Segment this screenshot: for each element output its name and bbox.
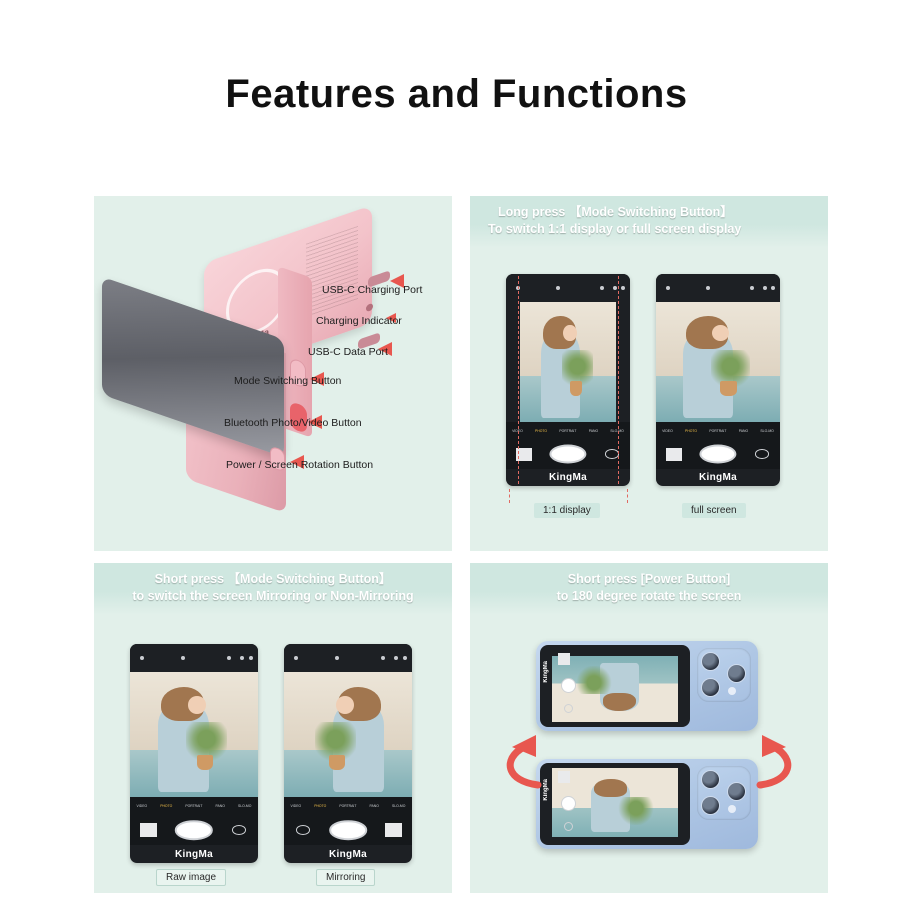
mode-portrait[interactable]: PORTRAIT [185,804,202,808]
mode-portrait[interactable]: PORTRAIT [709,429,726,433]
label-full-screen: full screen [682,503,746,518]
phone-viewfinder [130,672,258,797]
camera-mode-strip[interactable]: VIDEO PHOTO PORTRAIT PANO SLO-MO [130,797,258,815]
callout-label-bluetooth-button: Bluetooth Photo/Video Button [224,417,362,429]
timer-icon [240,656,244,660]
flash-icon [666,286,670,290]
ratio-icon [381,656,385,660]
mode-slomo[interactable]: SLO-MO [392,804,405,808]
phone-brand-label: KingMa [284,845,412,863]
flip-camera-icon[interactable] [296,825,310,835]
phone-rotated-upper: KingMa [536,641,758,731]
phone-preview-mirrored: VIDEO PHOTO PORTRAIT PANO SLO-MO KingMa [284,644,412,863]
gallery-thumbnail[interactable] [140,823,157,836]
live-photo-icon [556,286,560,290]
phone-viewfinder [284,672,412,797]
mode-pano[interactable]: PANO [370,804,379,808]
shutter-button[interactable] [175,820,213,840]
phone-brand-label: KingMa [130,845,258,863]
camera-mode-strip[interactable]: VIDEO PHOTO PORTRAIT PANO SLO-MO [284,797,412,815]
filter-icon [249,656,253,660]
monitor-screen-lower: KingMa [540,763,690,845]
caption-long-press: Long press 【Mode Switching Button】 To sw… [470,196,828,248]
mode-pano[interactable]: PANO [216,804,225,808]
camera-mode-strip[interactable]: VIDEO PHOTO PORTRAIT PANO SLO-MO [506,422,630,439]
flip-camera-icon[interactable] [605,449,619,458]
monitor-screen-upper: KingMa [540,645,690,727]
callout-label-charging-indicator: Charging Indicator [316,315,402,327]
flip-camera-icon[interactable] [564,704,573,713]
gallery-thumbnail[interactable] [558,771,570,783]
callout-label-mode-switching: Mode Switching Button [234,375,341,387]
panel-short-press-mirroring: Short press 【Mode Switching Button】 to s… [94,563,452,893]
live-photo-icon [706,286,710,290]
camera-lens-icon [701,652,720,671]
mode-video[interactable]: VIDEO [662,429,673,433]
ratio-icon [227,656,231,660]
mode-portrait[interactable]: PORTRAIT [559,429,576,433]
caption-line-1: Short press [Power Button] [476,571,822,588]
device-illustration: KiNGMa USB-C Charging Port Charging Indi… [94,196,452,551]
caption-line-2: to switch the screen Mirroring or Non-Mi… [100,588,446,605]
phone-brand-label: KingMa [656,469,780,486]
ratio-icon [600,286,604,290]
live-photo-icon [181,656,185,660]
panel-rotate-screen: Short press [Power Button] to 180 degree… [470,563,828,893]
phone-viewfinder [656,302,780,423]
timer-icon [394,656,398,660]
rotate-arrow-left-icon [488,731,550,791]
label-raw-image: Raw image [156,869,226,886]
ratio-icon [750,286,754,290]
flip-camera-icon[interactable] [564,822,573,831]
mode-pano[interactable]: PANO [739,429,748,433]
camera-controls [130,815,258,846]
camera-lens-icon [701,770,720,789]
flip-camera-icon[interactable] [232,825,246,835]
phone-rotated-lower: KingMa [536,759,758,849]
callout-label-usb-data: USB-C Data Port [308,346,388,358]
gallery-thumbnail[interactable] [666,448,682,461]
camera-controls [506,439,630,469]
phone-preview-one-to-one: VIDEO PHOTO PORTRAIT PANO SLO-MO KingMa [506,274,630,486]
mode-video[interactable]: VIDEO [137,804,148,808]
phone-brand-label: KingMa [506,469,630,486]
panel-device-callouts: KiNGMa USB-C Charging Port Charging Indi… [94,196,452,551]
mode-pano[interactable]: PANO [589,429,598,433]
crop-guide-line [627,489,628,503]
shutter-button[interactable] [699,445,736,464]
flash-icon [140,656,144,660]
shutter-button[interactable] [561,796,576,811]
camera-lens-icon [701,678,720,697]
timer-icon [613,286,617,290]
phone-preview-raw: VIDEO PHOTO PORTRAIT PANO SLO-MO KingMa [130,644,258,863]
mode-photo[interactable]: PHOTO [314,804,326,808]
camera-lens-icon [701,796,720,815]
filter-icon [771,286,775,290]
mode-photo[interactable]: PHOTO [685,429,697,433]
regulatory-text-block [306,226,358,318]
caption-rotate: Short press [Power Button] to 180 degree… [470,563,828,615]
camera-controls [284,815,412,846]
mode-portrait[interactable]: PORTRAIT [339,804,356,808]
camera-controls [656,439,780,469]
gallery-thumbnail[interactable] [385,823,402,836]
caption-short-press-mode: Short press 【Mode Switching Button】 to s… [94,563,452,615]
crop-guide-line [509,489,510,503]
mode-video[interactable]: VIDEO [291,804,302,808]
phone-status-bar [656,274,780,302]
phone-status-bar [506,274,630,302]
flash-icon [728,805,736,813]
crop-guide-line [618,276,619,484]
phone-viewfinder [520,302,617,423]
scene-flowerpot [720,381,736,395]
label-mirroring: Mirroring [316,869,375,886]
timer-icon [763,286,767,290]
callout-label-usb-charging: USB-C Charging Port [322,284,422,296]
callout-label-power-button: Power / Screen Rotation Button [226,459,373,471]
phone-status-bar [130,644,258,672]
mode-photo[interactable]: PHOTO [535,429,547,433]
shutter-button[interactable] [329,820,367,840]
mode-slomo[interactable]: SLO-MO [238,804,251,808]
camera-module-lower [697,766,751,820]
filter-icon [403,656,407,660]
flash-icon [294,656,298,660]
shutter-button[interactable] [549,445,586,464]
monitor-brand-label-upper: KingMa [543,661,549,683]
panel-long-press-mode: Long press 【Mode Switching Button】 To sw… [470,196,828,551]
scene-flowerpot [570,381,583,395]
caption-line-1: Short press 【Mode Switching Button】 [100,571,446,588]
mode-slomo[interactable]: SLO-MO [760,429,773,433]
caption-line-1: Long press 【Mode Switching Button】 [476,204,822,221]
caption-line-2: To switch 1:1 display or full screen dis… [476,221,822,238]
page-title: Features and Functions [0,72,913,117]
flip-camera-icon[interactable] [755,449,769,458]
phone-status-bar [284,644,412,672]
rotate-arrow-right-icon [748,731,810,791]
shutter-button[interactable] [561,678,576,693]
camera-mode-strip[interactable]: VIDEO PHOTO PORTRAIT PANO SLO-MO [656,422,780,439]
flash-icon [728,687,736,695]
caption-line-2: to 180 degree rotate the screen [476,588,822,605]
phone-preview-full-screen: VIDEO PHOTO PORTRAIT PANO SLO-MO KingMa [656,274,780,486]
filter-icon [621,286,625,290]
label-one-to-one-display: 1:1 display [534,503,600,518]
camera-module-upper [697,648,751,702]
camera-lens-icon [727,664,746,683]
scene-flowerpot [329,755,346,770]
mode-photo[interactable]: PHOTO [160,804,172,808]
camera-lens-icon [727,782,746,801]
scene-child-face [563,325,577,342]
scene-child-face [188,696,206,713]
live-photo-icon [335,656,339,660]
crop-guide-line [518,276,519,484]
gallery-thumbnail[interactable] [558,653,570,665]
scene-flowerpot [197,755,214,770]
